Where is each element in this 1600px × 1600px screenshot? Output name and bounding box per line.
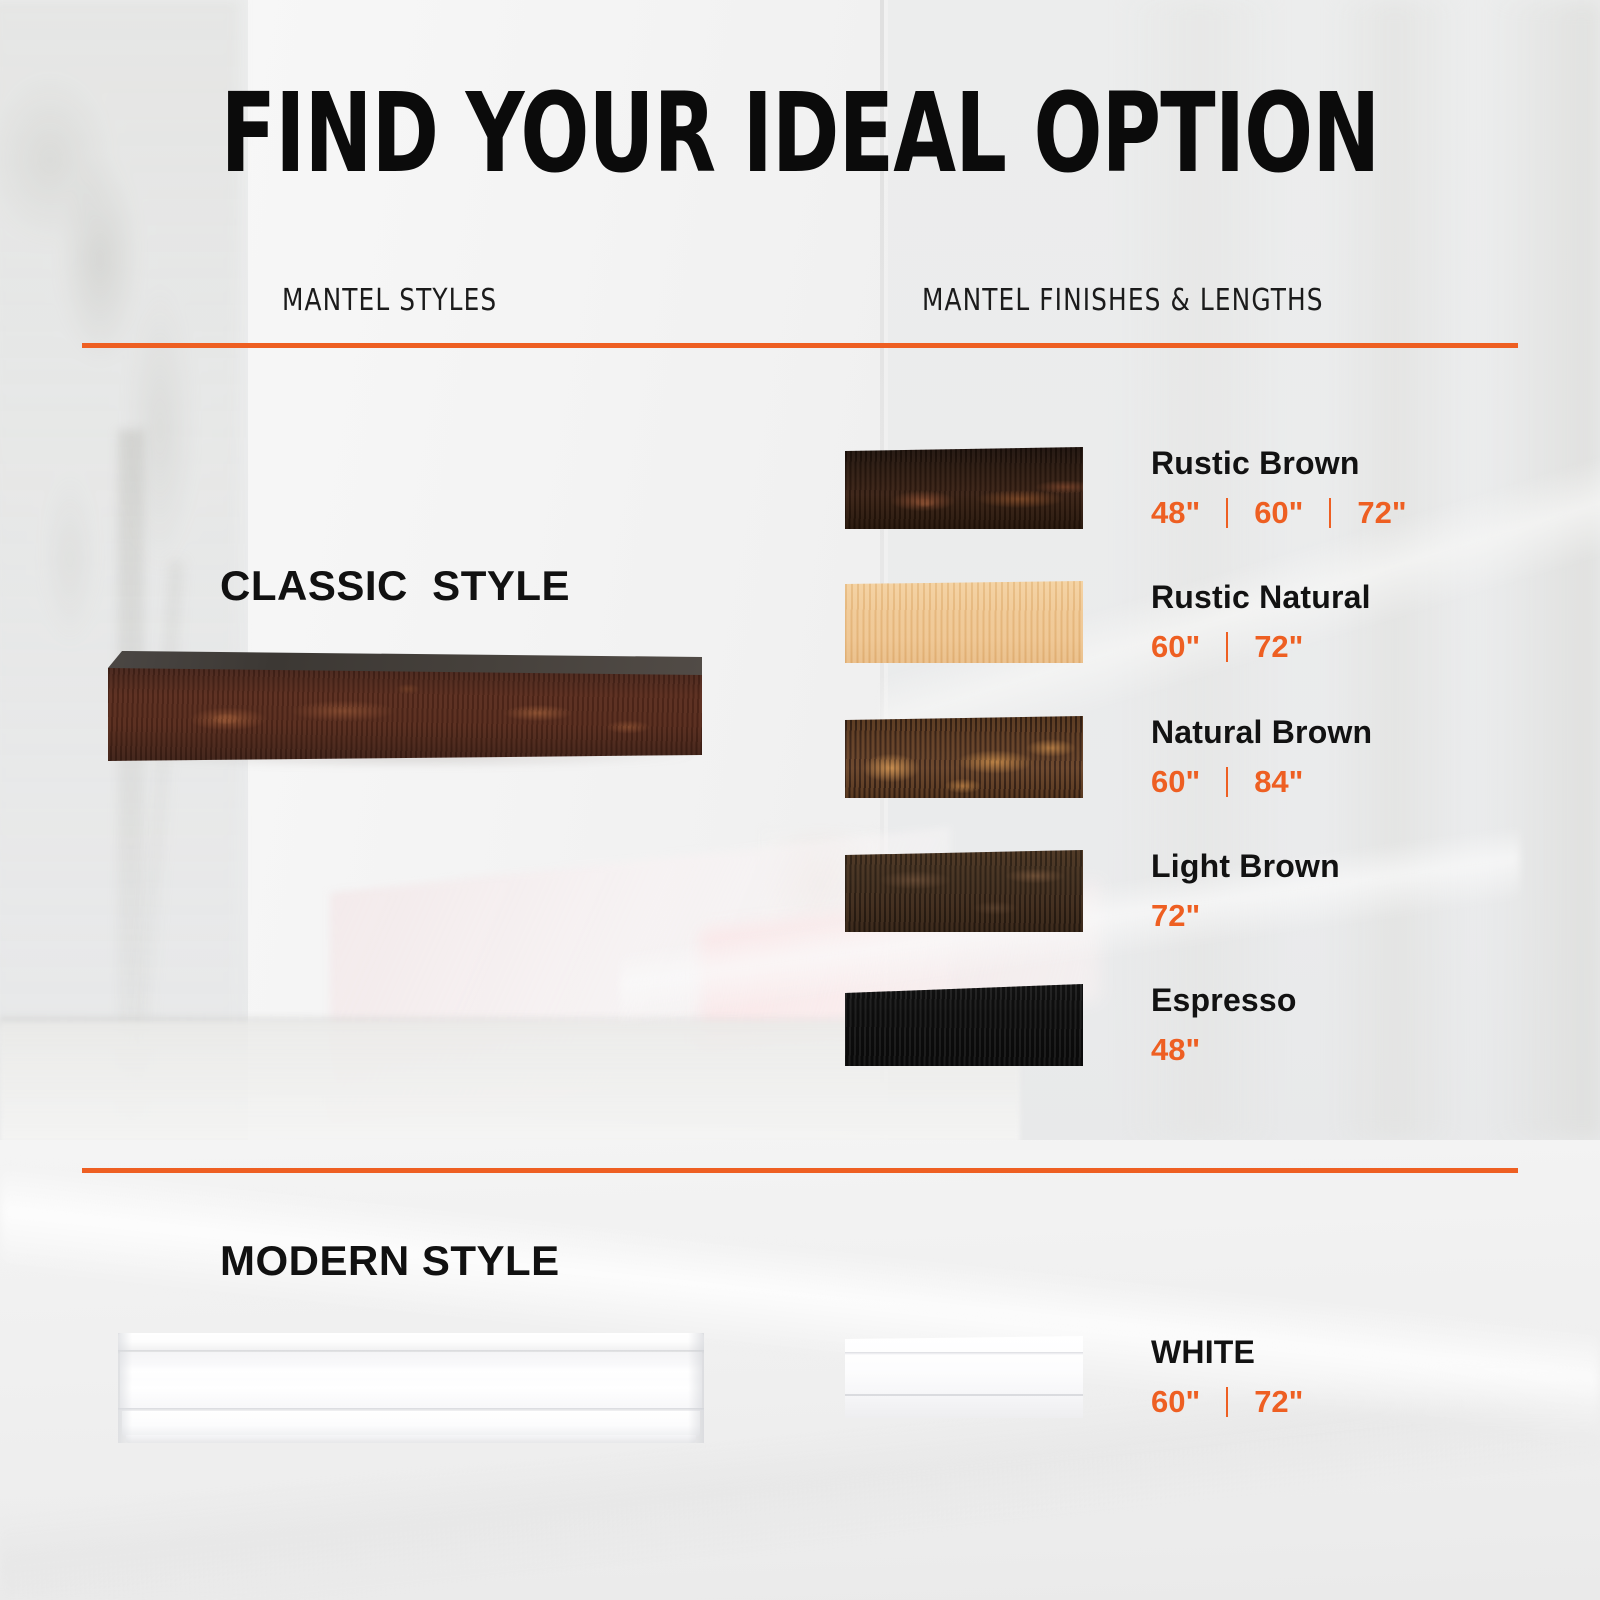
size-option: 72" — [1151, 898, 1200, 934]
finish-sizes: 48" — [1151, 1032, 1200, 1068]
size-option: 72" — [1357, 495, 1406, 531]
size-option: 72" — [1254, 629, 1303, 665]
modern-mantel-profile — [118, 1330, 704, 1448]
finish-name: Natural Brown — [1151, 714, 1372, 751]
finish-sizes: 72" — [1151, 898, 1200, 934]
page-title: FIND YOUR IDEAL OPTION — [144, 78, 1456, 188]
size-separator — [1226, 1387, 1228, 1417]
swatch-natural-brown — [845, 716, 1083, 798]
size-option: 48" — [1151, 495, 1200, 531]
swatch-espresso — [845, 984, 1083, 1066]
size-option: 48" — [1151, 1032, 1200, 1068]
size-option: 60" — [1151, 1384, 1200, 1420]
size-option: 60" — [1151, 629, 1200, 665]
finish-name: Espresso — [1151, 982, 1297, 1019]
style-label-modern: MODERN STYLE — [220, 1237, 560, 1285]
finish-name: Rustic Natural — [1151, 579, 1371, 616]
modern-style-mantel-image — [118, 1330, 704, 1448]
size-option: 84" — [1254, 764, 1303, 800]
finish-name: Rustic Brown — [1151, 445, 1360, 482]
swatch-white — [845, 1336, 1083, 1418]
divider-middle — [82, 1168, 1518, 1173]
size-separator — [1226, 498, 1228, 528]
finish-name: Light Brown — [1151, 848, 1340, 885]
finish-row: Rustic Natural 60" 72" — [845, 581, 1545, 701]
column-header-mantel-finishes: MANTEL FINISHES & LENGTHS — [922, 283, 1324, 318]
modern-mantel-cove-highlight — [120, 1364, 702, 1380]
finish-row: WHITE 60" 72" — [845, 1336, 1545, 1456]
size-separator — [1329, 498, 1331, 528]
modern-mantel-right-endcap — [688, 1333, 704, 1443]
size-option: 60" — [1151, 764, 1200, 800]
modern-mantel-foot — [126, 1435, 696, 1443]
finish-row: Espresso 48" — [845, 984, 1545, 1104]
finish-row: Natural Brown 60" 84" — [845, 716, 1545, 836]
swatch-rustic-brown — [845, 447, 1083, 529]
finish-row: Rustic Brown 48" 60" 72" — [845, 447, 1545, 567]
size-separator — [1226, 767, 1228, 797]
size-separator — [1226, 632, 1228, 662]
modern-mantel-lower-lip — [122, 1411, 700, 1437]
finish-sizes: 60" 84" — [1151, 764, 1303, 800]
classic-mantel-front-face — [108, 667, 702, 761]
finish-sizes: 60" 72" — [1151, 629, 1303, 665]
size-option: 60" — [1254, 495, 1303, 531]
finish-name: WHITE — [1151, 1334, 1255, 1371]
size-option: 72" — [1254, 1384, 1303, 1420]
swatch-white-profile-line-top — [845, 1352, 1083, 1355]
finish-row: Light Brown 72" — [845, 850, 1545, 970]
column-header-mantel-styles: MANTEL STYLES — [282, 283, 497, 318]
finish-sizes: 48" 60" 72" — [1151, 495, 1407, 531]
divider-top — [82, 343, 1518, 348]
swatch-white-profile-line-bottom — [845, 1394, 1083, 1396]
swatch-light-brown — [845, 850, 1083, 932]
finish-sizes: 60" 72" — [1151, 1384, 1303, 1420]
style-label-classic: CLASSIC STYLE — [220, 562, 570, 610]
modern-mantel-left-endcap — [118, 1333, 132, 1443]
classic-style-mantel-image — [108, 651, 702, 761]
modern-mantel-cove — [120, 1352, 702, 1410]
modern-mantel-top-ledge — [118, 1333, 704, 1351]
swatch-rustic-natural — [845, 581, 1083, 663]
